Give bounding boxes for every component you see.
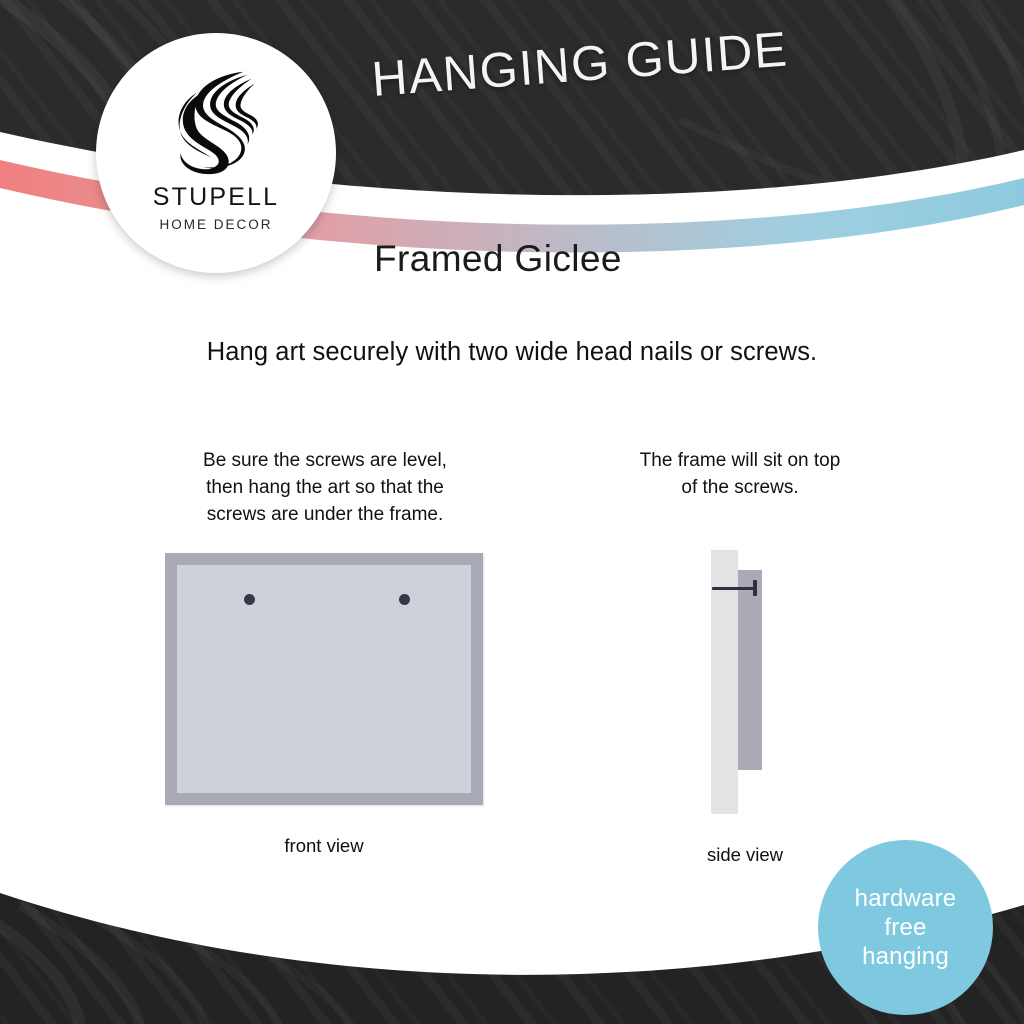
side-view-caption-line-1: The frame will sit on top [590,448,890,475]
badge-line-2: free [884,913,926,942]
hardware-free-hanging-badge: hardware free hanging [818,840,993,1015]
side-view-screw-head-icon [753,580,757,596]
page-title: HANGING GUIDE [370,14,893,108]
side-view-label: side view [660,844,830,866]
product-type-label: Framed Giclee [374,238,622,280]
stupell-swirl-logo-icon [157,59,275,177]
front-view-caption-line-3: screws are under the frame. [150,502,500,529]
hanging-guide-page: STUPELL HOME DECOR HANGING GUIDE Framed … [0,0,1024,1024]
front-view-caption-line-1: Be sure the screws are level, [150,448,500,475]
side-view-screw-shaft-icon [712,587,756,590]
side-view-caption: The frame will sit on top of the screws. [590,448,890,502]
front-view-label: front view [165,835,483,857]
main-instruction-text: Hang art securely with two wide head nai… [0,338,1024,367]
front-view-caption: Be sure the screws are level, then hang … [150,448,500,529]
badge-line-1: hardware [855,884,957,913]
front-view-mat [177,565,471,793]
front-view-caption-line-2: then hang the art so that the [150,475,500,502]
screw-dot-left-icon [244,594,255,605]
front-view-diagram [165,553,483,805]
brand-logo-badge: STUPELL HOME DECOR [96,33,336,273]
side-view-caption-line-2: of the screws. [590,475,890,502]
brand-name: STUPELL [153,183,280,212]
brand-tagline: HOME DECOR [159,217,272,232]
side-view-frame [738,570,762,770]
screw-dot-right-icon [399,594,410,605]
side-view-diagram [700,545,790,817]
badge-line-3: hanging [862,942,949,971]
